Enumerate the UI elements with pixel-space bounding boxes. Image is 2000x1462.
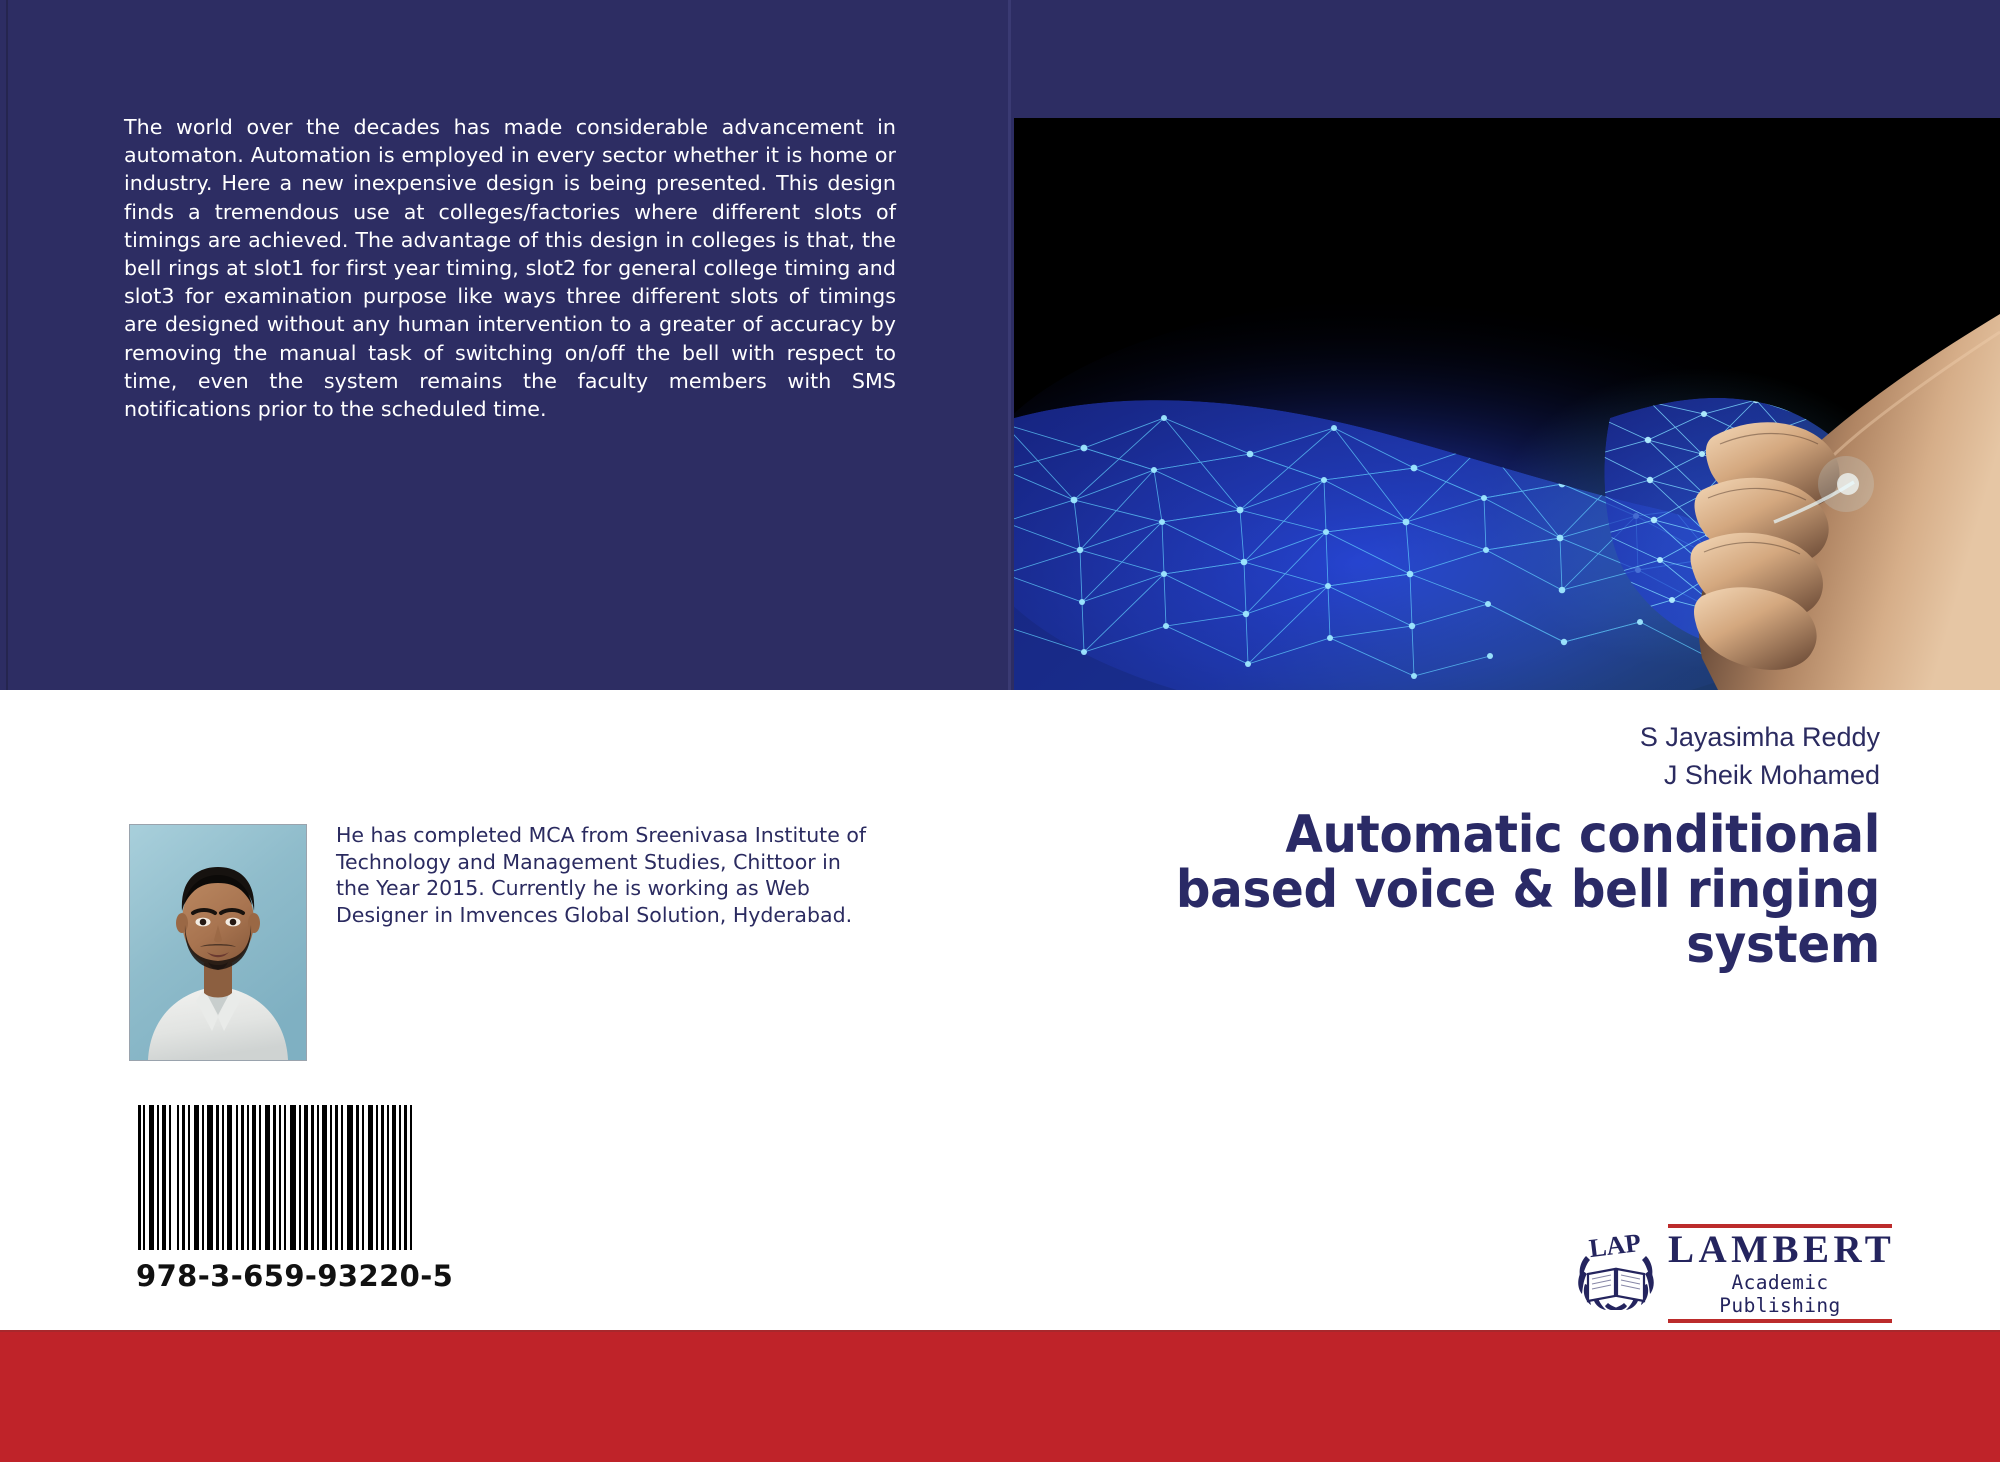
spine-fold-line-right [1008,0,1011,690]
author-portrait-image [130,825,306,1060]
publisher-name: LAMBERT [1668,1228,1892,1271]
back-cover-blurb: The world over the decades has made cons… [124,113,896,423]
title-line-3: system [894,918,1880,973]
isbn-number: 978-3-659-93220-5 [136,1259,414,1293]
red-band-top-edge [0,1330,2000,1332]
lambert-wordmark: LAMBERT Academic Publishing [1668,1224,1892,1323]
isbn-barcode-block: 978-3-659-93220-5 [136,1105,414,1293]
book-title: Automatic conditional based voice & bell… [894,808,1880,973]
title-line-2: based voice & bell ringing [894,863,1880,918]
bottom-red-band [0,1330,2000,1462]
publisher-tagline: Academic Publishing [1668,1271,1892,1319]
lap-laurel-book-emblem-icon: LAP [1572,1222,1660,1310]
author-bio-text: He has completed MCA from Sreenivasa Ins… [336,822,876,928]
title-line-1: Automatic conditional [894,808,1880,863]
svg-text:LAP: LAP [1587,1228,1642,1263]
spine-fold-line-left [6,0,8,690]
publisher-logo: LAP LAMBERT Academic Publishing [1572,1218,1892,1314]
barcode-image [136,1105,414,1250]
author-names: S Jayasimha Reddy J Sheik Mohamed [980,718,1880,794]
cover-artwork [1014,118,2000,690]
author-name-1: S Jayasimha Reddy [980,718,1880,756]
author-name-2: J Sheik Mohamed [980,756,1880,794]
lap-emblem-svg: LAP [1572,1222,1660,1310]
author-portrait-photo [129,824,307,1061]
digital-handshake-illustration [1014,118,2000,690]
logo-rule-bottom [1668,1319,1892,1323]
